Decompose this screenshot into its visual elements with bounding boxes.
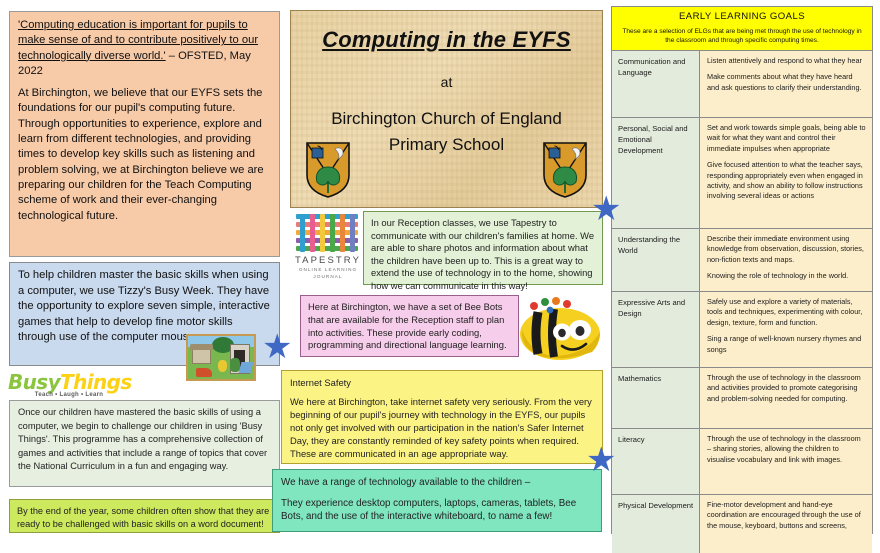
eyfs-intro-paragraph: At Birchington, we believe that our EYFS… <box>18 86 271 224</box>
tapestry-sub-line1: ONLINE LEARNING <box>292 266 364 273</box>
elg-table-subtitle: These are a selection of ELGs that are b… <box>618 27 866 45</box>
elg-point: Set and work towards simple goals, being… <box>707 123 866 154</box>
internet-safety-text: We here at Birchington, take internet sa… <box>290 395 594 460</box>
tapestry-weave-icon <box>294 212 360 254</box>
chick-character <box>218 360 227 372</box>
busy-things-wordmark: BusyThings <box>8 372 130 393</box>
tapestry-logo: TAPESTRY ONLINE LEARNING JOURNAL <box>292 212 364 278</box>
elg-table-body: Communication and Language Listen attent… <box>612 51 872 553</box>
tapestry-panel: In our Reception classes, we use Tapestr… <box>363 211 603 285</box>
tapestry-wordmark: TAPESTRY <box>292 255 364 266</box>
elg-table-title: EARLY LEARNING GOALS <box>618 11 866 22</box>
elg-description: Fine-motor development and hand-eye coor… <box>700 495 872 553</box>
elg-point: Describe their immediate environment usi… <box>707 234 866 265</box>
school-crest-icon-right <box>542 141 588 199</box>
elg-point: Fine-motor development and hand-eye coor… <box>707 500 866 531</box>
technology-range-line1: We have a range of technology available … <box>281 476 593 490</box>
elg-description: Safely use and explore a variety of mate… <box>700 292 872 367</box>
elg-point: Through the use of technology in the cla… <box>707 373 866 404</box>
elg-area-label: Communication and Language <box>612 51 700 117</box>
elg-point: Give focused attention to what the teach… <box>707 160 866 202</box>
elg-point: Sing a range of well-known nursery rhyme… <box>707 334 866 355</box>
elg-area-label: Mathematics <box>612 368 700 428</box>
elg-area-label: Physical Development <box>612 495 700 553</box>
star-mid-left-icon: ★ <box>262 330 292 364</box>
bee-bot-text: Here at Birchington, we have a set of Be… <box>308 301 511 352</box>
end-of-year-text: By the end of the year, some children of… <box>17 505 272 531</box>
elg-area-label: Personal, Social and Emotional Developme… <box>612 118 700 228</box>
tapestry-sub-line2: JOURNAL <box>292 273 364 280</box>
elg-point: Make comments about what they have heard… <box>707 72 866 93</box>
elg-description: Set and work towards simple goals, being… <box>700 118 872 228</box>
end-of-year-panel: By the end of the year, some children of… <box>9 499 280 533</box>
elg-description: Listen attentively and respond to what t… <box>700 51 872 117</box>
table-row: Physical Development Fine-motor developm… <box>612 495 872 553</box>
table-row: Literacy Through the use of technology i… <box>612 429 872 495</box>
elg-point: Knowing the role of technology in the wo… <box>707 271 866 281</box>
elg-area-label: Understanding the World <box>612 229 700 291</box>
school-crest-icon-left <box>305 141 351 199</box>
internet-safety-heading: Internet Safety <box>290 376 594 389</box>
elg-area-label: Literacy <box>612 429 700 494</box>
deckchair-shape <box>239 362 254 373</box>
star-bottom-right-icon: ★ <box>586 443 616 477</box>
elg-point: Through the use of technology in the cla… <box>707 434 866 465</box>
elg-table-header: EARLY LEARNING GOALS These are a selecti… <box>612 7 872 51</box>
elg-description: Through the use of technology in the cla… <box>700 429 872 494</box>
tizzys-busy-week-screenshot-image <box>186 334 256 381</box>
elg-area-label: Expressive Arts and Design <box>612 292 700 367</box>
early-learning-goals-table: EARLY LEARNING GOALS These are a selecti… <box>611 6 873 534</box>
elg-point: Safely use and explore a variety of mate… <box>707 297 866 328</box>
busy-things-text: Once our children have mastered the basi… <box>18 406 271 474</box>
elg-description: Describe their immediate environment usi… <box>700 229 872 291</box>
tapestry-text: In our Reception classes, we use Tapestr… <box>371 217 595 293</box>
eyfs-computing-poster: 'Computing education is important for pu… <box>0 0 880 541</box>
busy-things-panel: Once our children have mastered the basi… <box>9 400 280 487</box>
technology-range-line2: They experience desktop computers, lapto… <box>281 497 593 524</box>
title-card: Computing in the EYFS at Birchington Chu… <box>290 10 603 208</box>
title-connector: at <box>291 74 602 90</box>
ofsted-quote-text: 'Computing education is important for pu… <box>18 18 271 79</box>
technology-range-panel: We have a range of technology available … <box>272 469 602 532</box>
table-row: Expressive Arts and Design Safely use an… <box>612 292 872 368</box>
star-top-right-icon: ★ <box>591 192 621 226</box>
internet-safety-panel: Internet Safety We here at Birchington, … <box>281 370 603 464</box>
table-row: Personal, Social and Emotional Developme… <box>612 118 872 229</box>
busy-things-word-one: Busy <box>8 370 60 394</box>
table-row: Communication and Language Listen attent… <box>612 51 872 118</box>
table-row: Understanding the World Describe their i… <box>612 229 872 292</box>
bee-bot-panel: Here at Birchington, we have a set of Be… <box>300 295 519 357</box>
page-title: Computing in the EYFS <box>291 27 602 53</box>
ofsted-quote-panel: 'Computing education is important for pu… <box>9 11 280 257</box>
shed-shape <box>192 348 211 364</box>
elg-point: Listen attentively and respond to what t… <box>707 56 866 66</box>
wheelbarrow-shape <box>196 368 212 377</box>
bee-bot-robot-photo-image <box>516 290 602 362</box>
table-row: Mathematics Through the use of technolog… <box>612 368 872 429</box>
elg-description: Through the use of technology in the cla… <box>700 368 872 428</box>
busy-things-word-two: Things <box>60 370 132 394</box>
